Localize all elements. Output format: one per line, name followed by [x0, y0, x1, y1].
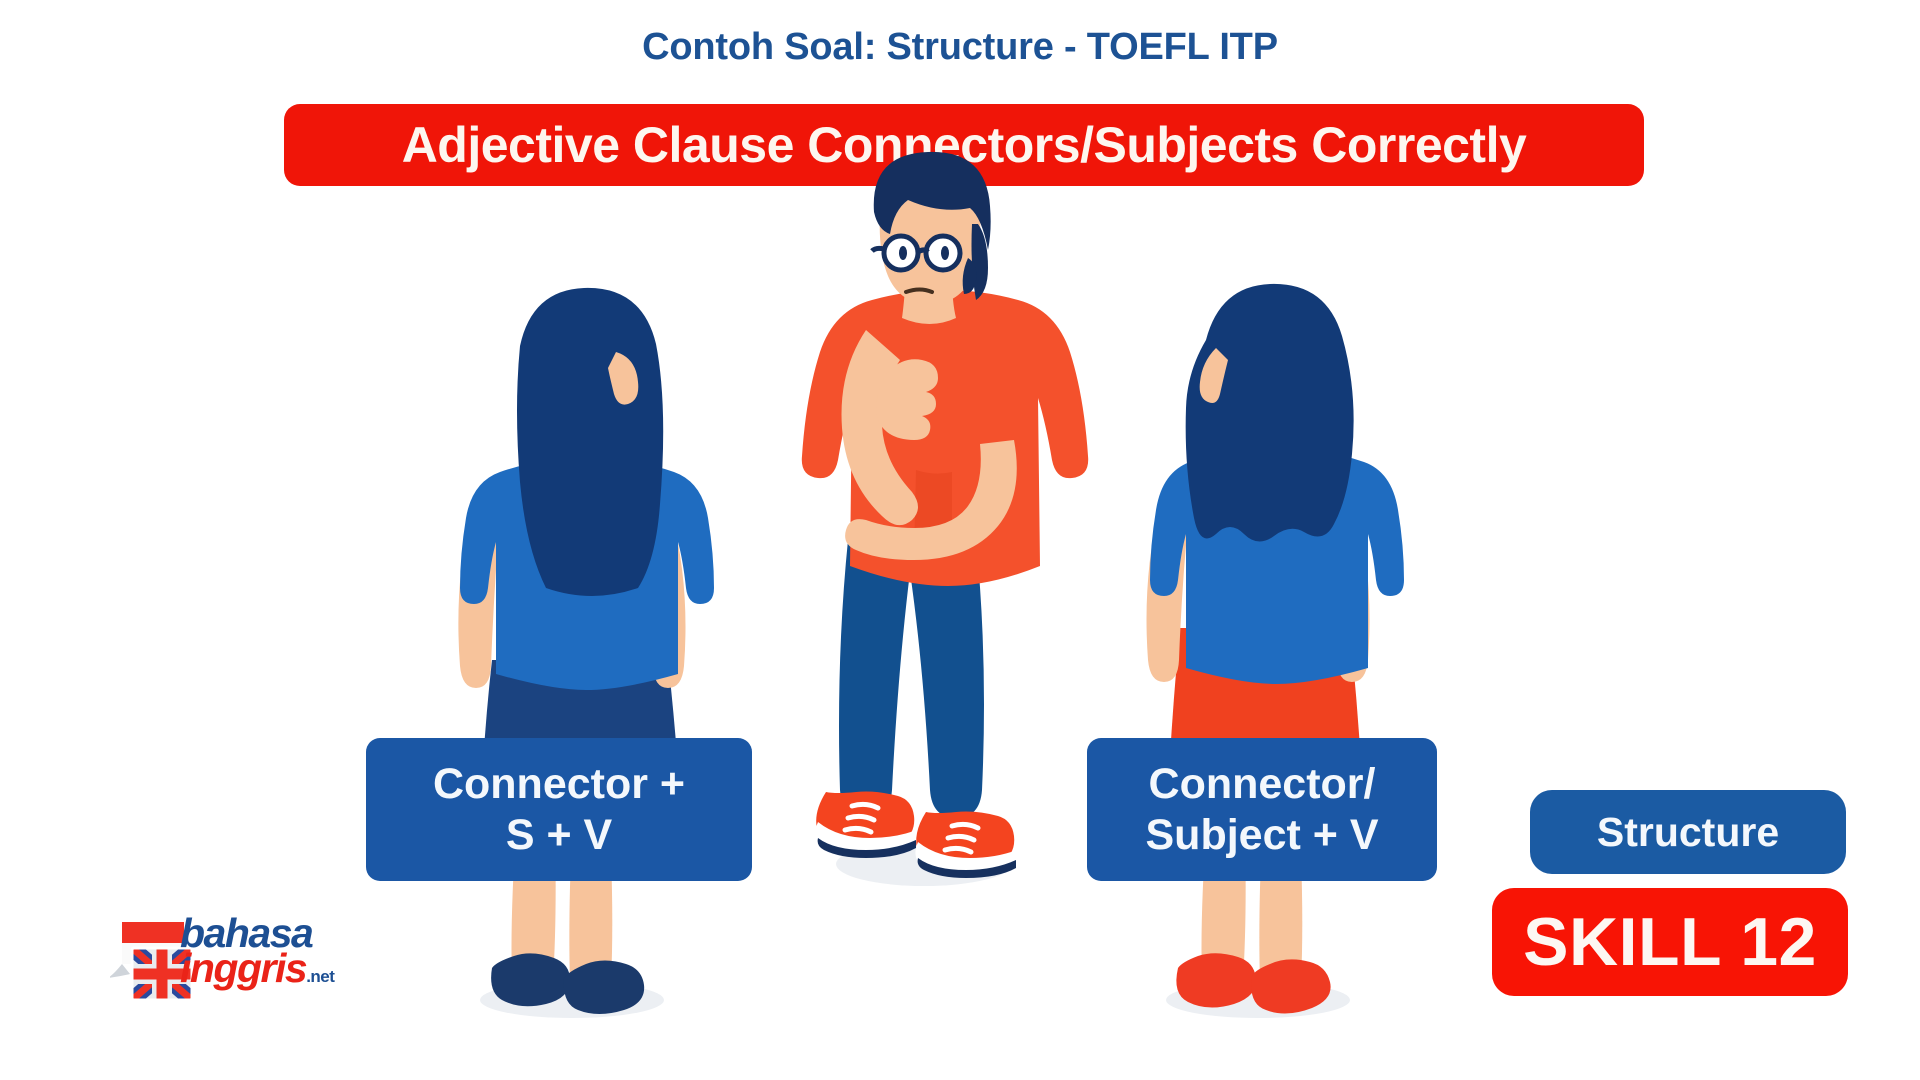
- woman-left-figure: [458, 288, 714, 1018]
- structure-badge-label: Structure: [1597, 809, 1779, 856]
- skill-badge: SKILL 12: [1492, 888, 1848, 996]
- logo-word-inggris: inggris: [180, 945, 306, 991]
- glasses-icon: [872, 236, 960, 270]
- rule-box-left-line1: Connector +: [433, 760, 685, 808]
- logo-tld: .net: [306, 967, 334, 986]
- rule-box-connector-subject-v: Connector/ Subject + V: [1087, 738, 1437, 881]
- man-thinking-figure: [802, 152, 1088, 886]
- structure-badge: Structure: [1530, 790, 1846, 874]
- logo-wordmark: bahasa inggris.net: [180, 916, 334, 986]
- rule-box-right-line1: Connector/: [1149, 760, 1376, 808]
- page-title: Contoh Soal: Structure - TOEFL ITP: [0, 26, 1920, 69]
- site-logo[interactable]: bahasa inggris.net: [110, 910, 380, 1020]
- woman-right-figure: [1147, 284, 1405, 1018]
- headline-banner: Adjective Clause Connectors/Subjects Cor…: [284, 104, 1644, 186]
- headline-banner-text: Adjective Clause Connectors/Subjects Cor…: [402, 120, 1527, 170]
- slide-canvas: Contoh Soal: Structure - TOEFL ITP Adjec…: [0, 0, 1920, 1080]
- rule-box-right-line2: Subject + V: [1146, 811, 1379, 859]
- rule-box-left-line2: S + V: [506, 811, 612, 859]
- rule-box-connector-s-v: Connector + S + V: [366, 738, 752, 881]
- skill-badge-label: SKILL 12: [1523, 903, 1817, 981]
